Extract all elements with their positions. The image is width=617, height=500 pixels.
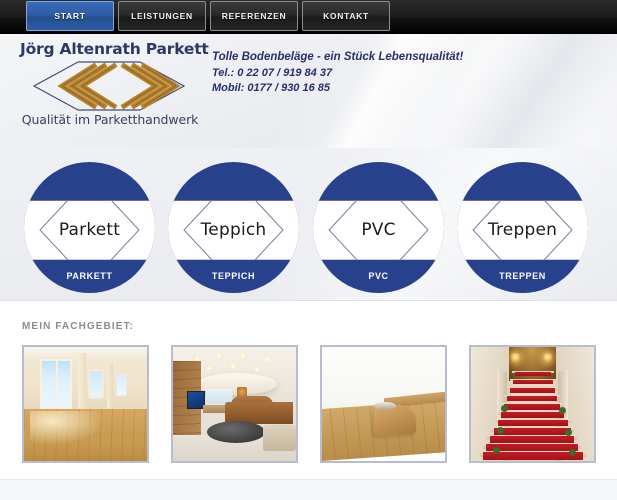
contact-mobile: Mobil: 0177 / 930 16 85 [212, 81, 463, 97]
circle-label-treppen: Treppen [457, 200, 588, 260]
category-circle-treppen[interactable]: Treppen TREPPEN [457, 162, 588, 293]
circle-label-pvc: PVC [313, 200, 444, 260]
site-header: Jörg Altenrath Parkett [0, 34, 617, 148]
circle-caption-parkett: PARKETT [24, 271, 155, 281]
thumbnail-image [24, 347, 147, 461]
logo-slogan: Qualität im Parketthandwerk [16, 112, 202, 128]
double-chevron-parquet-icon [16, 60, 202, 112]
site-footer [0, 480, 617, 500]
contact-phone: Tel.: 0 22 07 / 919 84 37 [212, 66, 463, 82]
thumbnail-image [322, 347, 445, 461]
nav-item-kontakt[interactable]: KONTAKT [302, 1, 390, 31]
nav-item-kontakt-label: KONTAKT [323, 11, 369, 21]
thumbnail-flooring-roll[interactable] [320, 345, 447, 463]
circle-caption-treppen: TREPPEN [457, 271, 588, 281]
nav-item-referenzen-label: REFERENZEN [222, 11, 287, 21]
circle-caption-pvc: PVC [313, 271, 444, 281]
content-section: MEIN FACHGEBIET: [0, 301, 617, 479]
circle-caption-teppich: TEPPICH [168, 271, 299, 281]
circle-label-parkett: Parkett [24, 200, 155, 260]
nav-item-start-label: START [54, 11, 85, 21]
nav-item-start[interactable]: START [26, 1, 114, 31]
page-root: START LEISTUNGEN REFERENZEN KONTAKT Jörg… [0, 0, 617, 500]
circle-label-teppich: Teppich [168, 200, 299, 260]
thumbnail-modern-lobby[interactable] [171, 345, 298, 463]
nav-button-group: START LEISTUNGEN REFERENZEN KONTAKT [26, 0, 390, 34]
nav-item-leistungen[interactable]: LEISTUNGEN [118, 1, 206, 31]
top-navigation-bar: START LEISTUNGEN REFERENZEN KONTAKT [0, 0, 617, 34]
thumbnail-empty-room[interactable] [22, 345, 149, 463]
nav-item-referenzen[interactable]: REFERENZEN [210, 1, 298, 31]
header-contact-block: Tolle Bodenbeläge - ein Stück Lebensqual… [212, 50, 463, 97]
logo-company-name: Jörg Altenrath Parkett [16, 40, 202, 59]
thumbnail-image [173, 347, 296, 461]
site-logo[interactable]: Jörg Altenrath Parkett [16, 40, 202, 144]
contact-tagline: Tolle Bodenbeläge - ein Stück Lebensqual… [212, 50, 463, 66]
thumbnail-red-carpet-stairs[interactable] [469, 345, 596, 463]
thumbnail-image [471, 347, 594, 461]
category-circle-pvc[interactable]: PVC PVC [313, 162, 444, 293]
section-title: MEIN FACHGEBIET: [22, 321, 134, 332]
category-circle-teppich[interactable]: Teppich TEPPICH [168, 162, 299, 293]
category-circle-parkett[interactable]: Parkett PARKETT [24, 162, 155, 293]
nav-item-leistungen-label: LEISTUNGEN [131, 11, 193, 21]
hero-section: Parkett PARKETT Teppich TEPPICH PVC PVC [0, 148, 617, 300]
thumbnail-gallery [22, 345, 596, 463]
